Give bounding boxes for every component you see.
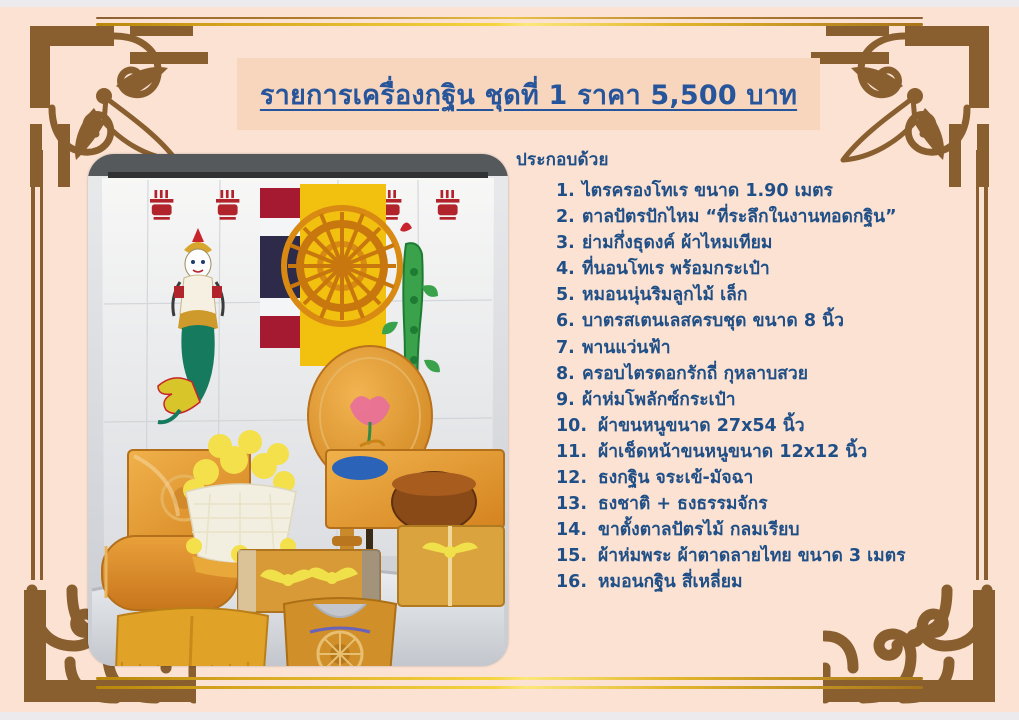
- item-number: 11.: [556, 444, 598, 462]
- item-number: 1.: [556, 183, 582, 201]
- list-item: 10.ผ้าขนหนูขนาด 27x54 นิ้ว: [556, 418, 986, 436]
- item-text: ไตรครองโทเร ขนาด 1.90 เมตร: [582, 183, 833, 201]
- item-number: 14.: [556, 522, 598, 540]
- title-banner: รายการเครื่องกฐิน ชุดที่ 1 ราคา 5,500 บา…: [237, 58, 820, 130]
- item-number: 13.: [556, 496, 598, 514]
- item-list: 1.ไตรครองโทเร ขนาด 1.90 เมตร 2.ตาลปัตรปั…: [516, 183, 986, 592]
- item-text: ผ้าขนหนูขนาด 27x54 นิ้ว: [598, 418, 805, 436]
- page-edge-top: [0, 0, 1019, 7]
- item-number: 9.: [556, 392, 582, 410]
- page-title: รายการเครื่องกฐิน ชุดที่ 1 ราคา 5,500 บา…: [260, 73, 797, 116]
- gold-rule-top: [96, 23, 923, 26]
- list-item: 3.ย่ามกึ่งธุดงค์ ผ้าไหมเทียม: [556, 235, 986, 253]
- item-number: 12.: [556, 470, 598, 488]
- item-number: 15.: [556, 548, 598, 566]
- list-item: 5.หมอนนุ่นริมลูกไม้ เล็ก: [556, 287, 986, 305]
- list-item: 8.ครอบไตรดอกรักถี่ กุหลาบสวย: [556, 366, 986, 384]
- gold-rule-bottom: [96, 686, 923, 689]
- list-item: 2.ตาลปัตรปักไหม “ที่ระลึกในงานทอดกฐิน”: [556, 209, 986, 227]
- list-item: 4.ที่นอนโทเร พร้อมกระเป๋า: [556, 261, 986, 279]
- list-item: 7.พานแว่นฟ้า: [556, 340, 986, 358]
- item-text: ที่นอนโทเร พร้อมกระเป๋า: [582, 261, 770, 279]
- list-item: 16.หมอนกฐิน สี่เหลี่ยม: [556, 574, 986, 592]
- towel-front: [116, 608, 268, 666]
- robe-bundle-right: [398, 526, 504, 606]
- list-item: 14.ขาตั้งตาลปัตรไม้ กลมเรียบ: [556, 522, 986, 540]
- item-text: พานแว่นฟ้า: [582, 340, 671, 358]
- gold-rule-bottom-thin: [96, 677, 923, 680]
- embroidered-bag-front: [284, 598, 396, 666]
- item-text: หมอนกฐิน สี่เหลี่ยม: [598, 574, 743, 592]
- item-text: หมอนนุ่นริมลูกไม้ เล็ก: [582, 287, 747, 305]
- item-number: 10.: [556, 418, 598, 436]
- item-text: ผ้าห่มโพลักซ์กระเป๋า: [582, 392, 736, 410]
- alms-bowl-and-carton: [326, 450, 504, 532]
- item-number: 8.: [556, 366, 582, 384]
- item-number: 5.: [556, 287, 582, 305]
- list-item: 6.บาตรสเตนเลสครบชุด ขนาด 8 นิ้ว: [556, 313, 986, 331]
- list-item: 12.ธงกฐิน จระเข้-มัจฉา: [556, 470, 986, 488]
- slide-canvas: รายการเครื่องกฐิน ชุดที่ 1 ราคา 5,500 บา…: [0, 0, 1019, 720]
- gold-rule-top-thin: [96, 17, 923, 19]
- page-edge-bottom: [0, 712, 1019, 720]
- item-text: ครอบไตรดอกรักถี่ กุหลาบสวย: [582, 366, 808, 384]
- item-text: ผ้าเช็ดหน้าขนหนูขนาด 12x12 นิ้ว: [598, 444, 867, 462]
- item-text: ธงกฐิน จระเข้-มัจฉา: [598, 470, 753, 488]
- item-number: 6.: [556, 313, 582, 331]
- dharmachakra-flag: [284, 184, 400, 366]
- list-item: 9.ผ้าห่มโพลักซ์กระเป๋า: [556, 392, 986, 410]
- item-list-panel: ประกอบด้วย 1.ไตรครองโทเร ขนาด 1.90 เมตร …: [516, 146, 986, 601]
- product-photo: [88, 154, 508, 666]
- photo-illustration: [88, 154, 508, 666]
- item-number: 16.: [556, 574, 598, 592]
- item-text: ผ้าห่มพระ ผ้าตาดลายไทย ขนาด 3 เมตร: [598, 548, 905, 566]
- item-number: 7.: [556, 340, 582, 358]
- list-intro-label: ประกอบด้วย: [516, 146, 986, 173]
- list-item: 15.ผ้าห่มพระ ผ้าตาดลายไทย ขนาด 3 เมตร: [556, 548, 986, 566]
- list-item: 1.ไตรครองโทเร ขนาด 1.90 เมตร: [556, 183, 986, 201]
- item-text: ตาลปัตรปักไหม “ที่ระลึกในงานทอดกฐิน”: [582, 209, 897, 227]
- item-number: 3.: [556, 235, 582, 253]
- item-number: 2.: [556, 209, 582, 227]
- item-text: ธงชาติ + ธงธรรมจักร: [598, 496, 768, 514]
- item-text: ขาตั้งตาลปัตรไม้ กลมเรียบ: [598, 522, 800, 540]
- list-item: 11.ผ้าเช็ดหน้าขนหนูขนาด 12x12 นิ้ว: [556, 444, 986, 462]
- frame-rail-left: [30, 150, 44, 580]
- list-item: 13.ธงชาติ + ธงธรรมจักร: [556, 496, 986, 514]
- item-text: บาตรสเตนเลสครบชุด ขนาด 8 นิ้ว: [582, 313, 844, 331]
- item-text: ย่ามกึ่งธุดงค์ ผ้าไหมเทียม: [582, 235, 772, 253]
- item-number: 4.: [556, 261, 582, 279]
